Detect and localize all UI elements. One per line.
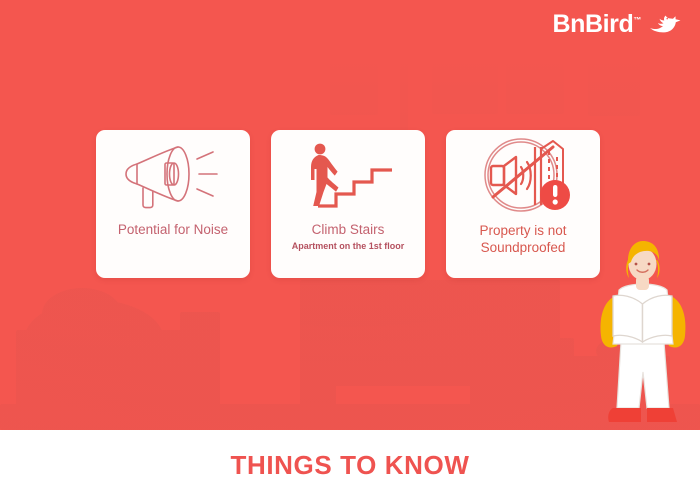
card-text-wrap: Climb Stairs Apartment on the 1st floor: [271, 222, 425, 278]
person-climbing-stairs-icon: [296, 140, 400, 212]
card-title: Potential for Noise: [112, 222, 234, 238]
card-climb-stairs[interactable]: Climb Stairs Apartment on the 1st floor: [271, 130, 425, 278]
brand-name: BnBird™: [552, 10, 641, 39]
card-icon-wrap: [271, 130, 425, 222]
card-property-not-soundproofed[interactable]: Property is not Soundproofed: [446, 130, 600, 278]
card-icon-wrap: [96, 130, 250, 222]
brand-name-text: BnBird: [552, 10, 633, 38]
card-subtitle: Apartment on the 1st floor: [288, 241, 409, 251]
megaphone-icon: [121, 141, 225, 211]
card-potential-for-noise[interactable]: Potential for Noise: [96, 130, 250, 278]
bird-icon: [648, 14, 682, 36]
no-soundproofing-icon: [471, 135, 575, 217]
card-title: Climb Stairs: [306, 222, 391, 238]
footer-heading: THINGS TO KNOW: [230, 450, 469, 481]
card-text-wrap: Potential for Noise: [96, 222, 250, 278]
footer-bar: THINGS TO KNOW: [0, 430, 700, 500]
card-text-wrap: Property is not Soundproofed: [446, 222, 600, 278]
card-title: Property is not Soundproofed: [446, 222, 600, 256]
brand-logo[interactable]: BnBird™: [552, 10, 682, 39]
trademark-symbol: ™: [633, 16, 641, 25]
person-reading-book-illustration: [585, 232, 700, 430]
screenshot-root: BnBird™: [0, 0, 700, 500]
info-card-list: Potential for Noise: [96, 130, 600, 278]
hero-banner: BnBird™: [0, 0, 700, 430]
card-icon-wrap: [446, 130, 600, 222]
